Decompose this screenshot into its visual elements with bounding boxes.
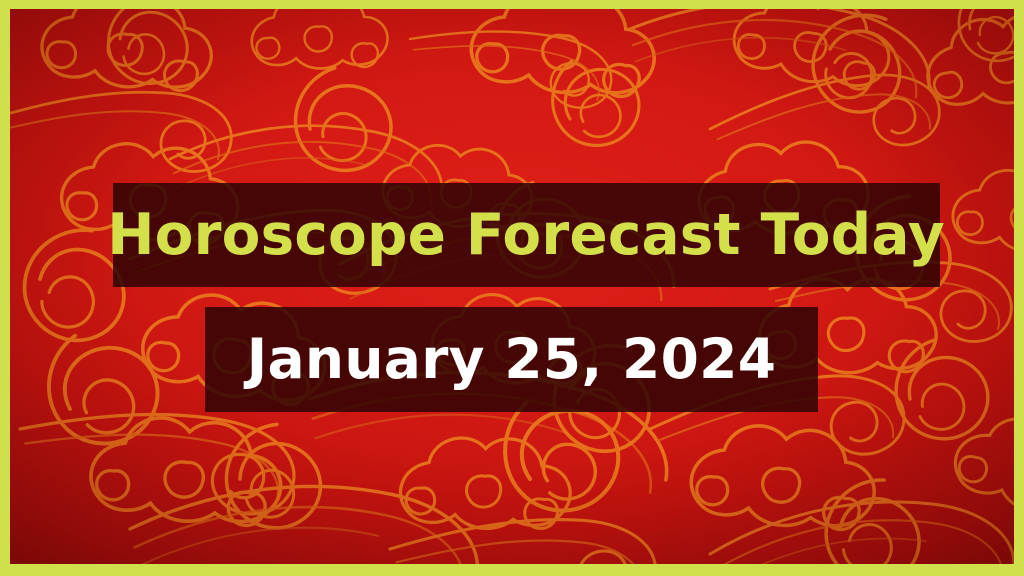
page-title: Horoscope Forecast Today (108, 207, 946, 264)
horoscope-forecast-card: Horoscope Forecast Today January 25, 202… (0, 0, 1024, 576)
date-band: January 25, 2024 (205, 307, 818, 412)
title-band: Horoscope Forecast Today (113, 183, 940, 287)
date-label: January 25, 2024 (247, 332, 777, 387)
